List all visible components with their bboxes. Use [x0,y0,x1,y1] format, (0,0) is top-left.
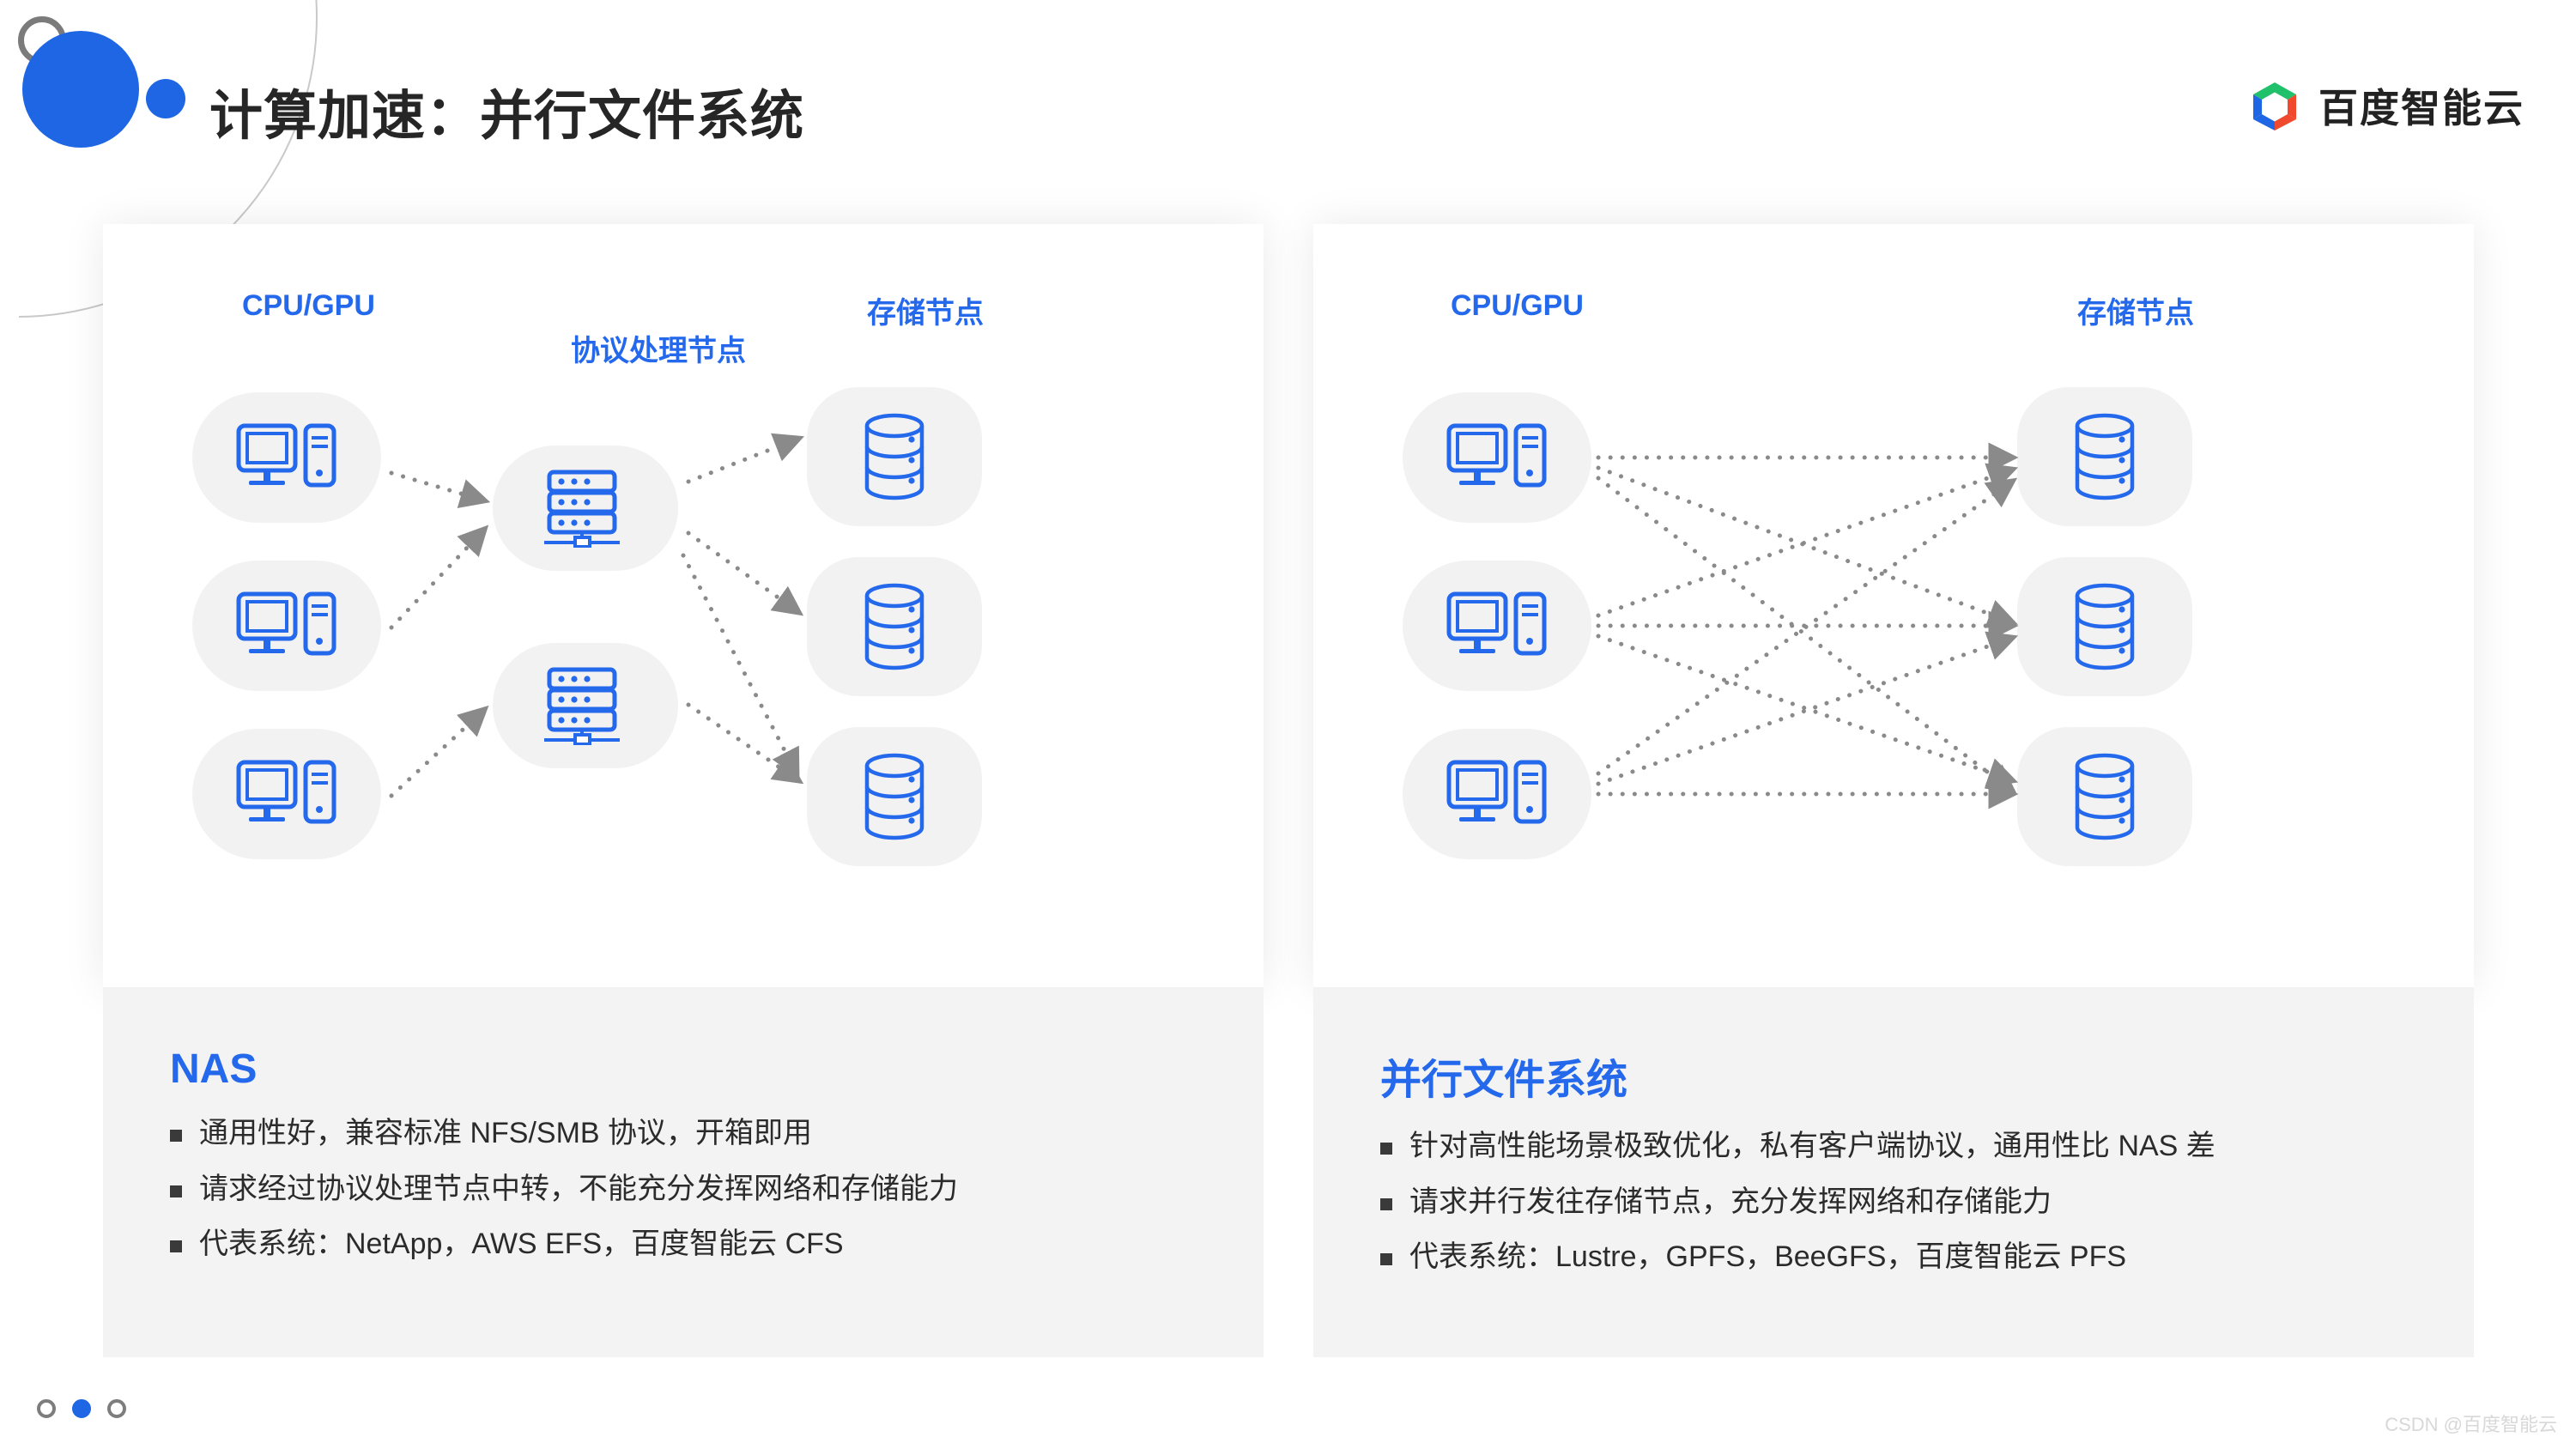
bullet-square-icon [170,1185,182,1197]
desktop-computer-icon [1446,591,1549,661]
left-white-rail [0,0,19,1449]
server-rack-icon [541,469,630,548]
bullet-text: 针对高性能场景极致优化，私有客户端协议，通用性比 NAS 差 [1409,1128,2215,1165]
list-item: 请求经过协议处理节点中转，不能充分发挥网络和存储能力 [170,1171,1197,1208]
label-protocol-nodes: 协议处理节点 [571,327,746,369]
desktop-computer-icon [235,759,338,829]
nas-diagram: CPU/GPU 协议处理节点 存储节点 [103,224,1264,987]
baidu-cloud-cube-icon [2246,77,2303,134]
storage-node-tile[interactable] [2017,387,2192,526]
list-item: 请求并行发往存储节点，充分发挥网络和存储能力 [1380,1184,2407,1221]
database-cylinder-icon [2069,412,2141,501]
client-tile[interactable] [192,392,381,523]
client-tile[interactable] [1403,392,1591,523]
bullet-square-icon [1380,1253,1392,1265]
pagination-dot-3[interactable] [107,1399,126,1418]
brand-lockup: 百度智能云 [2246,77,2524,134]
bullet-text: 通用性好，兼容标准 NFS/SMB 协议，开箱即用 [199,1115,812,1152]
pagination-dots[interactable] [37,1399,126,1418]
desktop-computer-icon [1446,422,1549,493]
storage-node-tile[interactable] [2017,727,2192,866]
panel-nas: CPU/GPU 协议处理节点 存储节点 [103,224,1264,1357]
database-cylinder-icon [858,412,930,501]
slide-header: 计算加速：并行文件系统 百度智能云 [0,0,2576,197]
brand-name: 百度智能云 [2318,77,2524,134]
protocol-node-tile[interactable] [493,643,678,768]
desktop-computer-icon [235,591,338,661]
client-tile[interactable] [1403,561,1591,691]
storage-node-tile[interactable] [2017,557,2192,696]
nas-heading: NAS [170,1046,1197,1093]
desktop-computer-icon [1446,759,1549,829]
pfs-text-block: 并行文件系统 针对高性能场景极致优化，私有客户端协议，通用性比 NAS 差 请求… [1313,987,2474,1357]
label-storage-left: 存储节点 [867,289,984,331]
storage-node-tile[interactable] [807,387,982,526]
database-cylinder-icon [858,752,930,841]
list-item: 代表系统：Lustre，GPFS，BeeGFS，百度智能云 PFS [1380,1239,2407,1276]
pagination-dot-2-active[interactable] [72,1399,91,1418]
database-cylinder-icon [2069,752,2141,841]
protocol-node-tile[interactable] [493,446,678,571]
database-cylinder-icon [858,582,930,671]
bullet-text: 请求经过协议处理节点中转，不能充分发挥网络和存储能力 [199,1171,958,1208]
storage-node-tile[interactable] [807,727,982,866]
client-tile[interactable] [1403,729,1591,859]
bullet-text: 代表系统：Lustre，GPFS，BeeGFS，百度智能云 PFS [1409,1239,2126,1276]
client-tile[interactable] [192,729,381,859]
storage-node-tile[interactable] [807,557,982,696]
pfs-heading: 并行文件系统 [1380,1046,2407,1106]
bullet-square-icon [1380,1198,1392,1210]
bullet-text: 代表系统：NetApp，AWS EFS，百度智能云 CFS [199,1226,844,1263]
desktop-computer-icon [235,422,338,493]
bullet-square-icon [170,1240,182,1252]
page-title: 计算加速：并行文件系统 [209,72,804,149]
slide-root: 计算加速：并行文件系统 百度智能云 CPU/GPU 协议处理节点 存储节点 [0,0,2576,1449]
pfs-diagram: CPU/GPU 存储节点 [1313,224,2474,987]
label-storage-right: 存储节点 [2077,289,2194,331]
label-clients-left: CPU/GPU [242,289,375,323]
panel-parallel-file-system: CPU/GPU 存储节点 [1313,224,2474,1357]
nas-text-block: NAS 通用性好，兼容标准 NFS/SMB 协议，开箱即用 请求经过协议处理节点… [103,987,1264,1357]
pagination-dot-1[interactable] [37,1399,56,1418]
list-item: 代表系统：NetApp，AWS EFS，百度智能云 CFS [170,1226,1197,1263]
bullet-square-icon [170,1130,182,1142]
database-cylinder-icon [2069,582,2141,671]
bullet-square-icon [1380,1143,1392,1155]
server-rack-icon [541,666,630,745]
list-item: 通用性好，兼容标准 NFS/SMB 协议，开箱即用 [170,1115,1197,1152]
list-item: 针对高性能场景极致优化，私有客户端协议，通用性比 NAS 差 [1380,1128,2407,1165]
label-clients-right: CPU/GPU [1451,289,1584,323]
client-tile[interactable] [192,561,381,691]
watermark: CSDN @百度智能云 [2385,1410,2557,1437]
bullet-text: 请求并行发往存储节点，充分发挥网络和存储能力 [1409,1184,2052,1221]
